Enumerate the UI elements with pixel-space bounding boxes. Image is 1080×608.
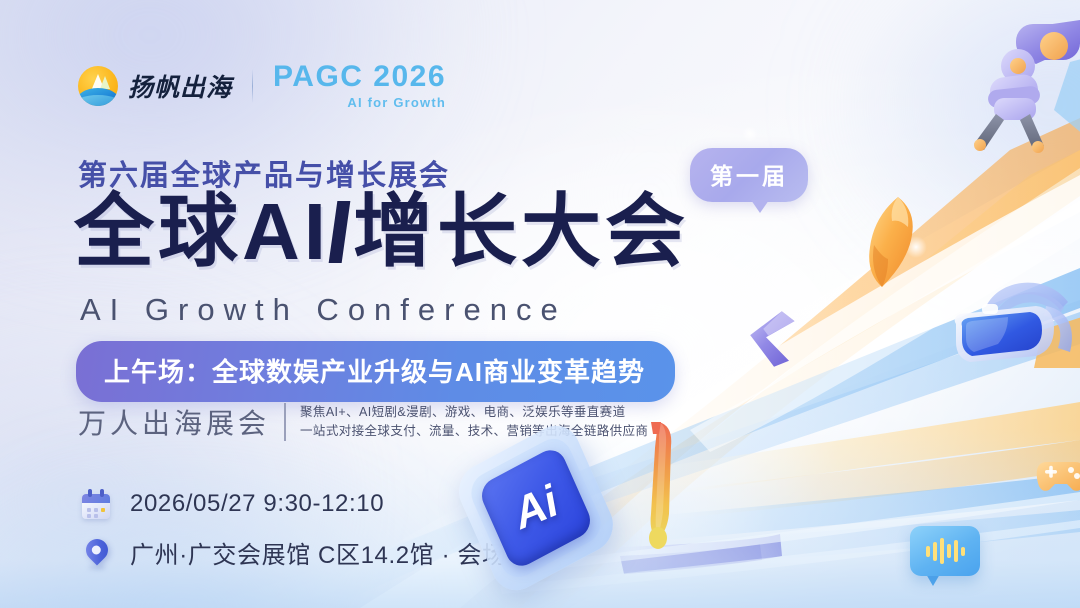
event-logo: PAGC 2026 AI for Growth bbox=[273, 62, 446, 109]
calendar-icon bbox=[80, 487, 114, 521]
location-pin-icon bbox=[80, 536, 114, 570]
tagline-headline: 万人出海展会 bbox=[78, 402, 270, 442]
sparkle bbox=[905, 236, 927, 258]
tagline-block: 万人出海展会 聚焦AI+、AI短剧&漫剧、游戏、电商、泛娱乐等垂直赛道 一站式对… bbox=[78, 402, 648, 442]
page-title-part2: 增长大会 bbox=[353, 187, 689, 276]
header-logo-row: 扬帆出海 PAGC 2026 AI for Growth bbox=[78, 62, 446, 109]
logo-divider bbox=[252, 69, 253, 103]
tagline-detail-lines: 聚焦AI+、AI短剧&漫剧、游戏、电商、泛娱乐等垂直赛道 一站式对接全球支付、流… bbox=[300, 405, 648, 439]
brand-name: 扬帆出海 bbox=[128, 68, 232, 104]
sparkle bbox=[742, 126, 758, 142]
tagline-line-2: 一站式对接全球支付、流量、技术、营销等出海全链路供应商 bbox=[300, 424, 648, 440]
chat-waveform-icon bbox=[910, 526, 980, 588]
title-accent-bar bbox=[329, 201, 351, 263]
event-location-text: 广州·广交会展馆 C区14.2馆 · 会场A bbox=[130, 535, 523, 570]
event-location-row: 广州·广交会展馆 C区14.2馆 · 会场A bbox=[80, 535, 523, 570]
event-tagline: AI for Growth bbox=[347, 96, 446, 109]
session-banner: 上午场：全球数娱产业升级与AI商业变革趋势 bbox=[76, 341, 675, 402]
game-controller-icon bbox=[1035, 452, 1080, 500]
sail-sun-logo-icon bbox=[78, 66, 118, 106]
page-title-part1: 全球AI bbox=[74, 187, 330, 276]
vr-headset-icon bbox=[950, 268, 1080, 368]
page-title-english: AI Growth Conference bbox=[80, 292, 567, 328]
tagline-line-1: 聚焦AI+、AI短剧&漫剧、游戏、电商、泛娱乐等垂直赛道 bbox=[300, 405, 648, 421]
event-meta: 2026/05/27 9:30-12:10 广州·广交会展馆 C区14.2馆 ·… bbox=[80, 487, 523, 570]
lanyard-badge-icon bbox=[645, 420, 691, 550]
robot-arm-icon bbox=[930, 18, 1080, 158]
chevron-3d-icon bbox=[744, 305, 798, 371]
tagline-divider bbox=[284, 403, 286, 441]
edition-badge-label: 第一届 bbox=[710, 163, 788, 189]
edition-badge: 第一届 bbox=[690, 148, 808, 202]
background-wash-right bbox=[840, 0, 1080, 270]
conference-poster: 扬帆出海 PAGC 2026 AI for Growth 第六届全球产品与增长展… bbox=[0, 0, 1080, 608]
brand-logo[interactable]: 扬帆出海 bbox=[78, 66, 232, 106]
page-title: 全球AI增长大会 bbox=[74, 192, 689, 272]
event-code: PAGC 2026 bbox=[273, 62, 446, 92]
orange-cone-icon bbox=[858, 195, 920, 291]
event-date-text: 2026/05/27 9:30-12:10 bbox=[130, 490, 384, 518]
event-date-row: 2026/05/27 9:30-12:10 bbox=[80, 487, 523, 521]
